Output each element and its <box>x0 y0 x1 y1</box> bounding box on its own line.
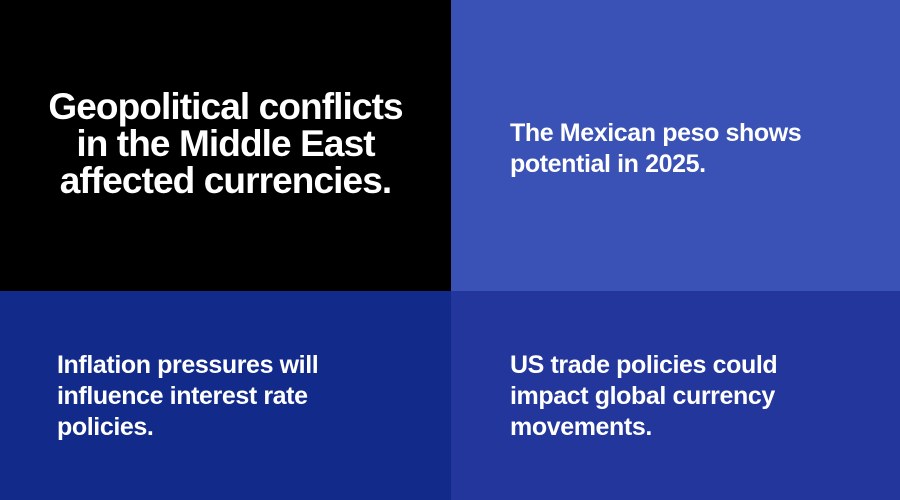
panel-top-left-headline: Geopolitical conflicts in the Middle Eas… <box>26 88 426 199</box>
panel-top-right: The Mexican peso shows potential in 2025… <box>451 0 900 291</box>
panel-bottom-right-text: US trade policies could impact global cu… <box>510 350 810 443</box>
panel-bottom-left-text: Inflation pressures will influence inter… <box>57 350 357 443</box>
panel-bottom-right: US trade policies could impact global cu… <box>451 291 900 500</box>
quad-panel-slide: Geopolitical conflicts in the Middle Eas… <box>0 0 900 500</box>
panel-top-right-text: The Mexican peso shows potential in 2025… <box>510 118 840 180</box>
panel-bottom-left: Inflation pressures will influence inter… <box>0 291 451 500</box>
panel-top-left: Geopolitical conflicts in the Middle Eas… <box>0 0 451 291</box>
